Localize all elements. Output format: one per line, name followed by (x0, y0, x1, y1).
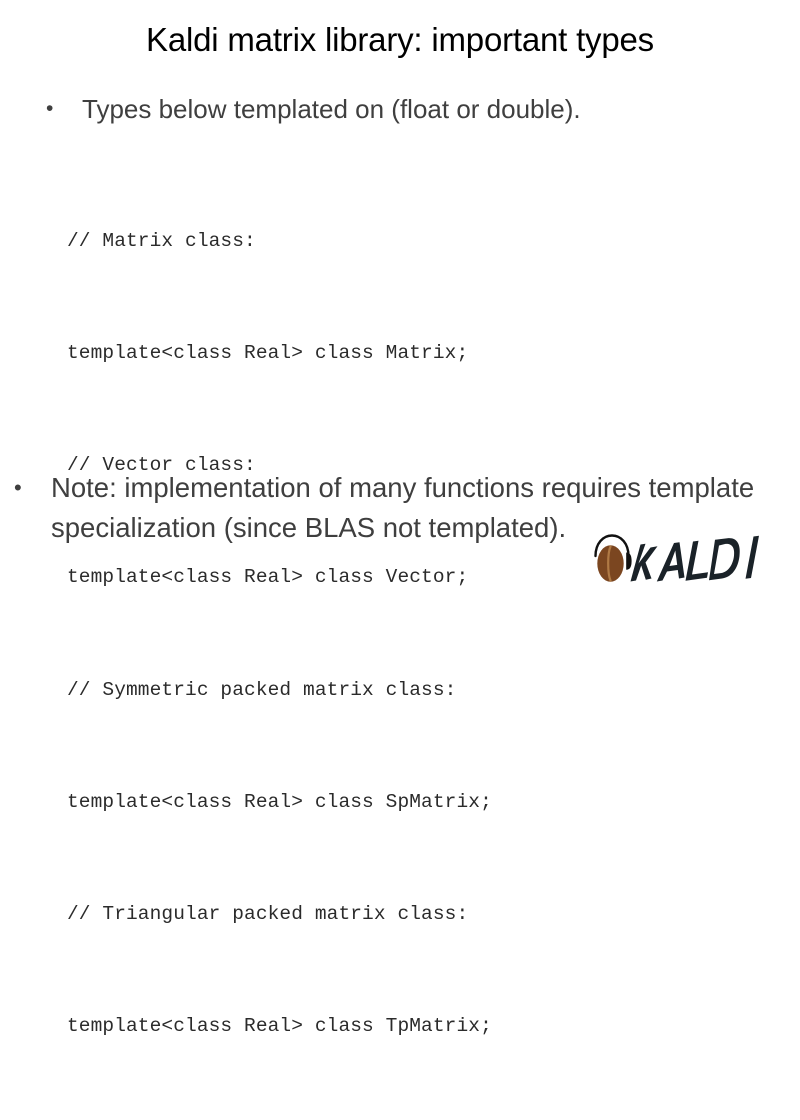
code-line: // Symmetric packed matrix class: (67, 672, 667, 709)
code-line: // Triangular packed matrix class: (67, 896, 667, 933)
coffee-bean-headphones-icon (596, 536, 632, 582)
code-line: template<class Real> class TpMatrix; (67, 1008, 667, 1045)
page-title: Kaldi matrix library: important types (0, 21, 800, 59)
code-line: template<class Real> class Matrix; (67, 335, 667, 372)
code-line: template<class Real> class SpMatrix; (67, 784, 667, 821)
bullet-text-types: Types below templated on (float or doubl… (82, 92, 786, 126)
bullet-marker-icon: • (14, 468, 51, 508)
code-line: template<class Real> class Vector; (67, 559, 667, 596)
bullet-item-types: • Types below templated on (float or dou… (46, 92, 786, 126)
kaldi-logo (588, 530, 796, 592)
slide-canvas: Kaldi matrix library: important types • … (0, 0, 800, 599)
code-block: // Matrix class: template<class Real> cl… (67, 148, 667, 1120)
code-line: // Matrix class: (67, 223, 667, 260)
kaldi-wordmark (631, 536, 760, 582)
bullet-marker-icon: • (46, 92, 82, 126)
